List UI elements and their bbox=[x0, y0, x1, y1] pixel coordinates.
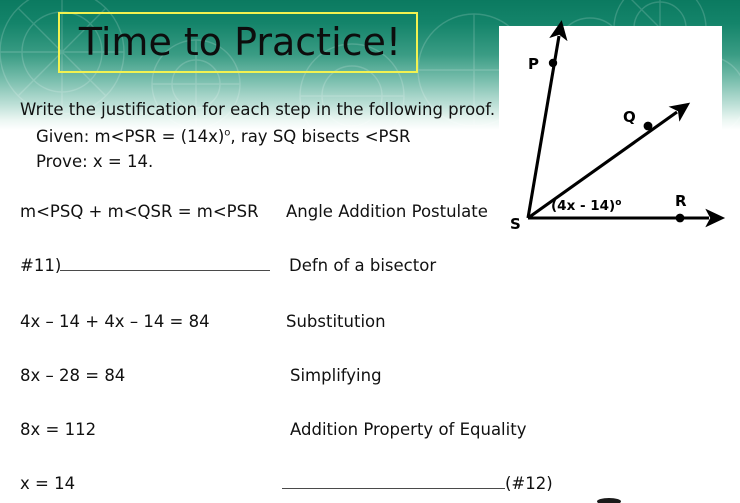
proof-statement: 8x – 28 = 84 bbox=[20, 366, 125, 385]
answer-blank-line[interactable] bbox=[60, 258, 270, 271]
answer-blank-line[interactable] bbox=[282, 476, 505, 489]
proof-row: #11)Defn of a bisector bbox=[20, 256, 720, 280]
proof-reason: (#12) bbox=[505, 474, 553, 493]
slide-title-box: Time to Practice! bbox=[58, 12, 418, 73]
given-suffix: , ray SQ bisects <PSR bbox=[230, 127, 410, 146]
prove-statement: Prove: x = 14. bbox=[36, 152, 153, 171]
proof-statement: x = 14 bbox=[20, 474, 75, 493]
proof-statement: #11) bbox=[20, 256, 61, 275]
proof-statement: 8x = 112 bbox=[20, 420, 96, 439]
point-q-label: Q bbox=[623, 108, 636, 126]
point-s-label: S bbox=[510, 215, 521, 233]
proof-statement: m<PSQ + m<QSR = m<PSR bbox=[20, 202, 259, 221]
bottom-edge-artifact bbox=[597, 498, 621, 503]
angle-diagram: P Q R S (4x - 14)o bbox=[495, 20, 740, 235]
instruction-text: Write the justification for each step in… bbox=[20, 100, 495, 119]
page-title: Time to Practice! bbox=[60, 14, 420, 71]
proof-reason: Substitution bbox=[286, 312, 386, 331]
ray-sp: P bbox=[528, 36, 559, 218]
point-r-label: R bbox=[675, 192, 687, 210]
point-p-dot bbox=[549, 59, 557, 67]
proof-row: x = 14(#12) bbox=[20, 474, 720, 498]
slide-canvas: Time to Practice! Write the justificatio… bbox=[0, 0, 740, 503]
proof-row: 8x = 112Addition Property of Equality bbox=[20, 420, 720, 444]
point-p-label: P bbox=[528, 55, 539, 73]
angle-measure-label: (4x - 14)o bbox=[551, 198, 621, 214]
given-prefix: Given: m<PSR = (14x) bbox=[36, 127, 224, 146]
proof-statement: 4x – 14 + 4x – 14 = 84 bbox=[20, 312, 210, 331]
proof-reason: Simplifying bbox=[290, 366, 382, 385]
point-q-dot bbox=[644, 122, 653, 131]
proof-reason: Angle Addition Postulate bbox=[286, 202, 488, 221]
proof-row: 4x – 14 + 4x – 14 = 84Substitution bbox=[20, 312, 720, 336]
point-r-dot bbox=[676, 214, 685, 223]
proof-reason: Addition Property of Equality bbox=[290, 420, 526, 439]
proof-row: 8x – 28 = 84Simplifying bbox=[20, 366, 720, 390]
given-statement: Given: m<PSR = (14x)o, ray SQ bisects <P… bbox=[36, 127, 410, 146]
proof-reason: Defn of a bisector bbox=[289, 256, 436, 275]
